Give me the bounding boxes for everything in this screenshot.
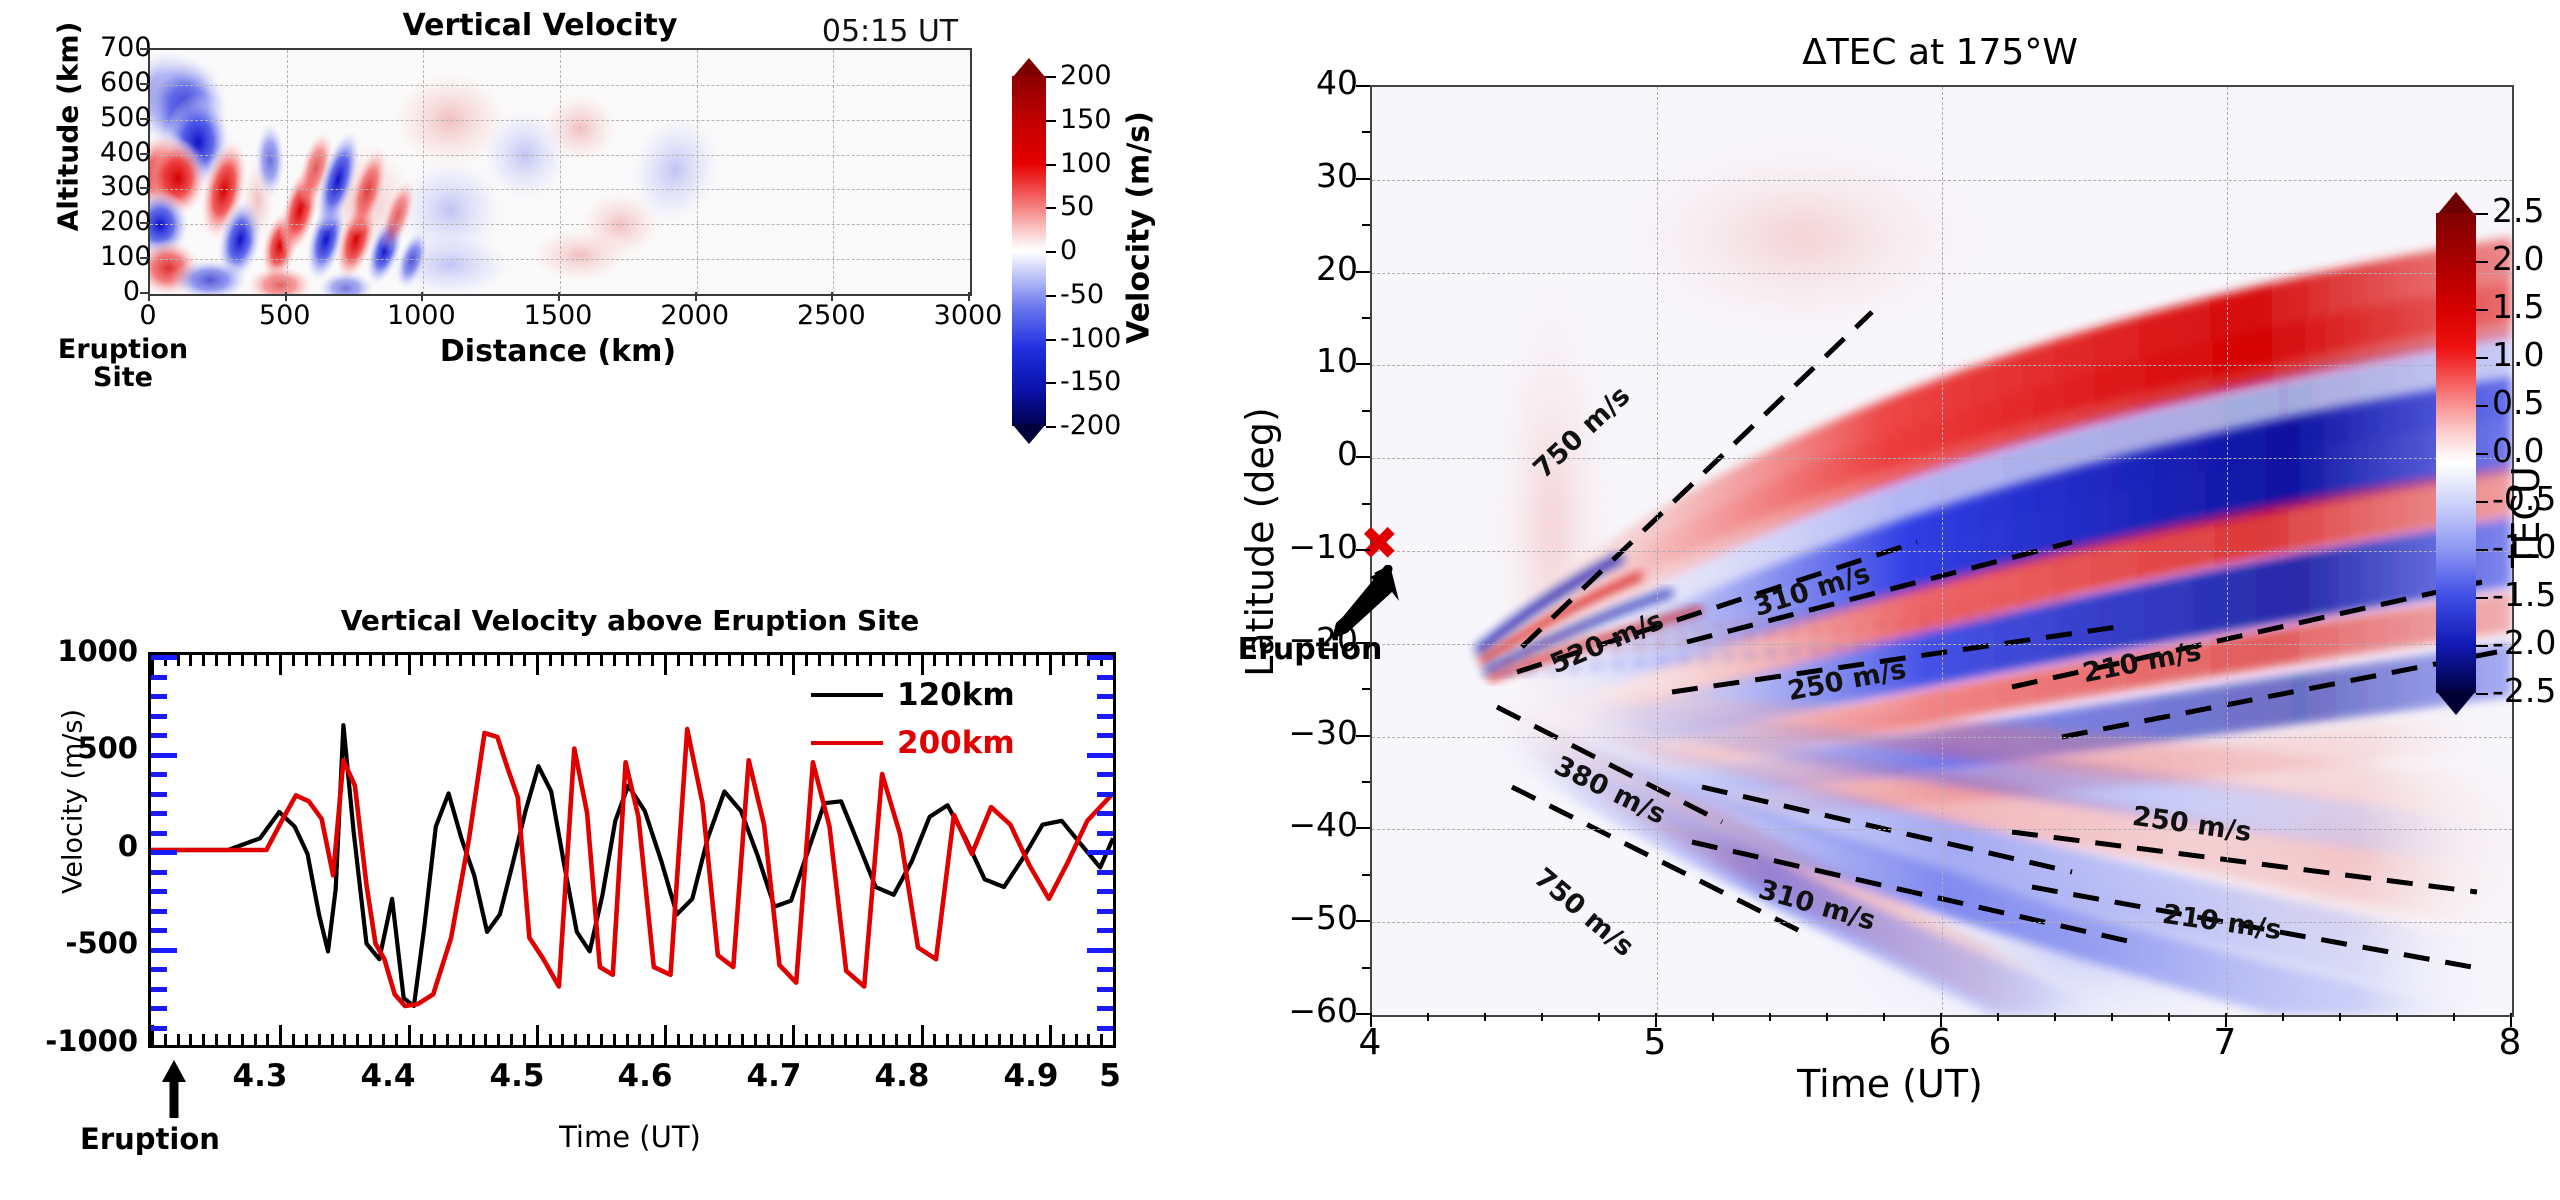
- panel-a-xtickmark: [831, 292, 833, 301]
- panel-c-xtick: 7: [2165, 1022, 2285, 1063]
- panel-b-tick-right: [1087, 948, 1113, 953]
- panel-c-ytickmark-minor: [1362, 503, 1370, 505]
- panel-b-tick-top: [497, 655, 500, 666]
- panel-b-tick-top: [805, 655, 808, 666]
- panel-b-tick-bottom: [459, 1034, 462, 1045]
- panel-b-tick-bottom: [292, 1034, 295, 1045]
- eruption-marker-icon: ✖: [1360, 520, 1399, 566]
- panel-b-tick-right: [1097, 1006, 1113, 1011]
- panel-c-colorbar-tick: 2.0: [2492, 239, 2544, 278]
- panel-b-tick-bottom: [895, 1034, 898, 1045]
- panel-c-title: ΔTEC at 175°W: [1440, 32, 2440, 73]
- panel-a-gridline-v: [287, 50, 288, 294]
- legend-swatch-200km: [811, 741, 883, 745]
- panel-b-tick-bottom: [1100, 1034, 1103, 1045]
- panel-b-tick-right: [1097, 1026, 1113, 1031]
- panel-b-tick-right: [1087, 850, 1113, 855]
- panel-b-tick-top: [433, 655, 436, 666]
- panel-b-tick-bottom: [638, 1034, 641, 1045]
- panel-b-tick-right: [1097, 792, 1113, 797]
- panel-c-xtickmark-minor: [1883, 1013, 1885, 1021]
- panel-b-tick-top: [972, 655, 975, 666]
- panel-a-ytickmark: [140, 257, 149, 259]
- colorbar-tickmark: [2476, 261, 2488, 263]
- panel-b-tick-bottom: [690, 1034, 693, 1045]
- panel-b-tick-left: [151, 987, 167, 992]
- panel-a-ytickmark: [140, 222, 149, 224]
- panel-b-tick-bottom: [1075, 1034, 1078, 1045]
- colorbar-tickmark: [2476, 501, 2488, 503]
- panel-a-gridline-v: [833, 50, 834, 294]
- panel-b-tick-top: [754, 655, 757, 666]
- panel-c-xtick: 5: [1595, 1022, 1715, 1063]
- panel-b-tick-bottom: [985, 1034, 988, 1045]
- panel-b-tick-left: [151, 811, 167, 816]
- panel-b-tick-top: [831, 655, 834, 666]
- panel-b-tick-right: [1097, 811, 1113, 816]
- panel-b-tick-left: [151, 714, 167, 719]
- colorbar-tickmark: [1046, 164, 1056, 166]
- panel-b-tick-top: [908, 655, 911, 666]
- panel-c-xtick: 6: [1880, 1022, 2000, 1063]
- panel-a-xtick: 2000: [640, 300, 750, 331]
- panel-b-tick-top: [1010, 655, 1013, 666]
- panel-c-xtickmark: [2225, 1013, 2227, 1027]
- panel-a-xtickmark: [968, 292, 970, 301]
- panel-c-ytickmark-minor: [1362, 874, 1370, 876]
- panel-b-tick-right: [1097, 733, 1113, 738]
- panel-c-ytickmark: [1356, 827, 1370, 829]
- panel-a-ytick: 500: [100, 102, 140, 133]
- panel-b-tick-bottom: [1036, 1034, 1039, 1045]
- panel-dtec-keogram: ΔTEC at 175°W: [1180, 0, 2560, 1200]
- panel-a-colorbar-tick: 150: [1060, 104, 1112, 135]
- panel-c-ytick: 40: [1240, 63, 1358, 102]
- panel-b-tick-bottom: [728, 1034, 731, 1045]
- panel-a-xtick: 2500: [776, 300, 886, 331]
- panel-b-tick-bottom: [998, 1034, 1001, 1045]
- panel-b-tick-top: [459, 655, 462, 666]
- panel-b-tick-top: [510, 655, 513, 666]
- eruption-site-line2: Site: [93, 362, 153, 393]
- panel-b-tick-left: [151, 889, 167, 894]
- panel-b-tick-bottom: [959, 1034, 962, 1045]
- panel-b-tick-bottom: [677, 1034, 680, 1045]
- panel-c-ytickmark-minor: [1362, 224, 1370, 226]
- panel-b-tick-top: [741, 655, 744, 666]
- panel-b-tick-top: [587, 655, 590, 666]
- eruption-arrow-icon: [160, 1060, 188, 1118]
- panel-b-tick-bottom: [1023, 1034, 1026, 1045]
- panel-b-tick-bottom: [1062, 1034, 1065, 1045]
- panel-b-tick-bottom: [356, 1034, 359, 1045]
- panel-b-tick-bottom: [177, 1034, 180, 1045]
- panel-a-xtick: 500: [230, 300, 340, 331]
- panel-a-colorbar-tick: -50: [1060, 279, 1104, 310]
- panel-c-xtickmark-minor: [1598, 1013, 1600, 1021]
- panel-b-tick-left: [151, 948, 177, 953]
- panel-b-tick-bottom: [574, 1034, 577, 1045]
- panel-b-tick-top: [574, 655, 577, 666]
- panel-b-tick-top: [1049, 655, 1052, 675]
- panel-b-tick-top: [600, 655, 603, 666]
- panel-c-ytickmark-minor: [1362, 131, 1370, 133]
- panel-b-tick-top: [651, 655, 654, 666]
- panel-b-tick-top: [343, 655, 346, 666]
- panel-b-tick-bottom: [856, 1034, 859, 1045]
- panel-c-xtickmark-minor: [2168, 1013, 2170, 1021]
- panel-b-tick-bottom: [1113, 1034, 1116, 1045]
- panel-b-tick-right: [1097, 870, 1113, 875]
- panel-b-tick-top: [959, 655, 962, 666]
- panel-b-tick-bottom: [254, 1034, 257, 1045]
- colorbar-extend-down-arrow: [1012, 424, 1046, 444]
- panel-c-gridline-h: [1372, 922, 2512, 923]
- panel-c-ytickmark: [1356, 271, 1370, 273]
- panel-b-tick-top: [1023, 655, 1026, 666]
- panel-c-ytickmark: [1356, 456, 1370, 458]
- panel-b-tick-left: [151, 675, 167, 680]
- panel-b-tick-top: [254, 655, 257, 666]
- panel-b-tick-bottom: [446, 1034, 449, 1045]
- panel-a-xtick: 1000: [366, 300, 476, 331]
- panel-b-tick-right: [1087, 753, 1113, 758]
- panel-b-tick-top: [472, 655, 475, 666]
- panel-b-tick-top: [446, 655, 449, 666]
- panel-b-tick-top: [305, 655, 308, 666]
- panel-c-colorbar-tick: 1.5: [2492, 287, 2544, 326]
- panel-b-tick-top: [856, 655, 859, 666]
- panel-c-gridline-h: [1372, 829, 2512, 830]
- panel-b-tick-bottom: [587, 1034, 590, 1045]
- panel-a-ylabel: Altitude (km): [52, 0, 85, 257]
- panel-a-colorbar-tick: 100: [1060, 148, 1112, 179]
- panel-a-gridline-h: [150, 155, 970, 156]
- panel-b-tick-bottom: [343, 1034, 346, 1045]
- panel-b-tick-top: [331, 655, 334, 666]
- panel-b-tick-top: [369, 655, 372, 666]
- panel-a-xtickmark: [148, 292, 150, 301]
- colorbar-tickmark: [2476, 693, 2488, 695]
- colorbar-tickmark: [2476, 645, 2488, 647]
- panel-a-ytick: 700: [100, 32, 140, 63]
- panel-b-tick-left: [151, 1045, 177, 1048]
- figure-root: Vertical Velocity 05:15 UT: [0, 0, 2560, 1200]
- panel-b-tick-bottom: [792, 1025, 795, 1045]
- panel-c-gridline-h: [1372, 180, 2512, 181]
- panel-b-tick-bottom: [420, 1034, 423, 1045]
- panel-c-xtickmark-minor: [1427, 1013, 1429, 1021]
- panel-a-plot-area: [148, 48, 972, 296]
- colorbar-tickmark: [1046, 382, 1056, 384]
- panel-b-tick-bottom: [561, 1034, 564, 1045]
- panel-c-colorbar-tick: -2.5: [2492, 671, 2556, 710]
- panel-b-tick-right: [1097, 889, 1113, 894]
- legend-label-200km: 200km: [897, 725, 1015, 761]
- colorbar-tickmark: [1046, 207, 1056, 209]
- panel-c-ylabel: Latitude (deg): [1238, 312, 1282, 772]
- panel-a-gridline-h: [150, 120, 970, 121]
- panel-c-xtickmark: [2510, 1013, 2512, 1027]
- panel-c-ytick: 20: [1240, 249, 1358, 288]
- panel-c-xtickmark-minor: [1769, 1013, 1771, 1021]
- panel-a-ytick: 300: [100, 171, 140, 202]
- panel-c-xtickmark-minor: [2396, 1013, 2398, 1021]
- panel-a-ytickmark: [140, 118, 149, 120]
- colorbar-tickmark: [2476, 549, 2488, 551]
- panel-c-xlabel: Time (UT): [1660, 1062, 2120, 1106]
- panel-b-ytick: -1000: [10, 1024, 138, 1058]
- panel-b-tick-bottom: [382, 1034, 385, 1045]
- panel-b-plot-area: 120km 200km: [148, 652, 1116, 1048]
- panel-b-tick-top: [882, 655, 885, 666]
- panel-b-tick-top: [818, 655, 821, 666]
- panel-b-tick-top: [292, 655, 295, 666]
- panel-b-tick-top: [933, 655, 936, 666]
- panel-b-xtick: 4.8: [842, 1058, 962, 1094]
- panel-a-colorbar: 200 150 100 50 0 -50 -100 -150 -200 Velo…: [1012, 60, 1046, 442]
- panel-c-ytickmark: [1356, 85, 1370, 87]
- panel-c-xtick: 8: [2450, 1022, 2560, 1063]
- panel-b-tick-bottom: [408, 1025, 411, 1045]
- panel-a-ytickmark: [140, 48, 149, 50]
- panel-b-tick-bottom: [472, 1034, 475, 1045]
- panel-c-xtickmark-minor: [2453, 1013, 2455, 1021]
- panel-a-eruption-site-label: Eruption Site: [28, 336, 218, 391]
- panel-b-tick-top: [279, 655, 282, 675]
- panel-b-tick-top: [408, 655, 411, 675]
- panel-b-tick-top: [215, 655, 218, 666]
- panel-b-tick-bottom: [972, 1034, 975, 1045]
- panel-a-gridline-h: [150, 85, 970, 86]
- panel-b-tick-top: [202, 655, 205, 666]
- eruption-site-line1: Eruption: [58, 334, 188, 365]
- panel-b-tick-top: [177, 655, 180, 666]
- panel-a-title: Vertical Velocity: [230, 8, 850, 43]
- panel-b-xtick: 4.3: [200, 1058, 320, 1094]
- panel-a-xtick: 1500: [503, 300, 613, 331]
- panel-b-tick-bottom: [651, 1034, 654, 1045]
- panel-a-xtickmark: [558, 292, 560, 301]
- legend-item-120km: 120km: [811, 671, 1041, 719]
- colorbar-tickmark: [2476, 357, 2488, 359]
- panel-b-tick-bottom: [715, 1034, 718, 1045]
- panel-c-ytickmark: [1356, 642, 1370, 644]
- panel-b-tick-top: [318, 655, 321, 666]
- panel-b-tick-bottom: [921, 1025, 924, 1045]
- panel-b-tick-left: [151, 753, 177, 758]
- panel-b-tick-bottom: [869, 1034, 872, 1045]
- panel-b-tick-top: [189, 655, 192, 666]
- panel-b-eruption-label: Eruption: [30, 1122, 270, 1156]
- panel-a-ytickmark: [140, 153, 149, 155]
- panel-c-xtickmark-minor: [2111, 1013, 2113, 1021]
- panel-b-xtick: 4.5: [457, 1058, 577, 1094]
- panel-vertical-velocity-timeseries: Vertical Velocity above Eruption Site 12…: [0, 560, 1180, 1200]
- panel-b-tick-top: [869, 655, 872, 666]
- colorbar-extend-up-arrow: [1012, 58, 1046, 78]
- panel-c-gridline-h: [1372, 737, 2512, 738]
- panel-a-ytick: 200: [100, 206, 140, 237]
- panel-b-tick-bottom: [189, 1034, 192, 1045]
- panel-b-tick-bottom: [279, 1025, 282, 1045]
- colorbar-tickmark: [1046, 295, 1056, 297]
- colorbar-tickmark: [2476, 309, 2488, 311]
- panel-b-tick-bottom: [613, 1034, 616, 1045]
- panel-b-tick-bottom: [202, 1034, 205, 1045]
- panel-c-ytickmark-minor: [1362, 688, 1370, 690]
- panel-b-tick-left: [151, 772, 167, 777]
- colorbar-tickmark: [1046, 76, 1056, 78]
- panel-b-tick-bottom: [510, 1034, 513, 1045]
- panel-b-tick-left: [151, 655, 177, 660]
- panel-b-tick-right: [1097, 928, 1113, 933]
- panel-b-tick-bottom: [549, 1034, 552, 1045]
- panel-c-xtickmark-minor: [2282, 1013, 2284, 1021]
- panel-b-tick-bottom: [395, 1034, 398, 1045]
- panel-b-tick-bottom: [664, 1025, 667, 1045]
- panel-a-ytick: 400: [100, 137, 140, 168]
- panel-b-tick-bottom: [882, 1034, 885, 1045]
- panel-b-tick-bottom: [908, 1034, 911, 1045]
- panel-c-colorbar-tick: -2.0: [2492, 623, 2556, 662]
- legend-item-200km: 200km: [811, 719, 1041, 767]
- panel-c-colorbar-tick: 2.5: [2492, 191, 2544, 230]
- panel-b-tick-top: [946, 655, 949, 666]
- panel-b-xtick: 4.4: [328, 1058, 448, 1094]
- panel-b-tick-right: [1087, 655, 1113, 660]
- panel-b-title: Vertical Velocity above Eruption Site: [160, 604, 1100, 637]
- panel-c-xtickmark: [1655, 1013, 1657, 1027]
- panel-b-tick-bottom: [241, 1034, 244, 1045]
- panel-a-ytick: 600: [100, 67, 140, 98]
- panel-b-tick-left: [151, 831, 167, 836]
- panel-b-tick-top: [985, 655, 988, 666]
- panel-c-ytickmark: [1356, 178, 1370, 180]
- panel-b-tick-left: [151, 1026, 167, 1031]
- panel-a-ytickmark: [140, 83, 149, 85]
- panel-b-tick-left: [151, 870, 167, 875]
- panel-c-gridline-h: [1372, 551, 2512, 552]
- panel-b-tick-top: [767, 655, 770, 666]
- panel-b-tick-left: [151, 1006, 167, 1011]
- panel-a-colorbar-tick: 200: [1060, 60, 1112, 91]
- panel-a-xlabel: Distance (km): [318, 334, 798, 369]
- panel-a-colorbar-tick: -200: [1060, 410, 1121, 441]
- panel-b-tick-top: [998, 655, 1001, 666]
- panel-c-ytickmark-minor: [1362, 595, 1370, 597]
- panel-b-tick-top: [484, 655, 487, 666]
- panel-b-tick-top: [266, 655, 269, 666]
- panel-b-tick-bottom: [703, 1034, 706, 1045]
- panel-a-xtickmark: [285, 292, 287, 301]
- panel-b-tick-bottom: [780, 1034, 783, 1045]
- panel-b-tick-top: [792, 655, 795, 675]
- panel-b-tick-top: [382, 655, 385, 666]
- colorbar-gradient: [1012, 76, 1046, 426]
- panel-b-legend: 120km 200km: [811, 671, 1041, 767]
- panel-b-tick-right: [1097, 987, 1113, 992]
- panel-b-tick-bottom: [369, 1034, 372, 1045]
- panel-b-tick-bottom: [305, 1034, 308, 1045]
- panel-b-tick-right: [1097, 909, 1113, 914]
- panel-c-ytickmark-minor: [1362, 781, 1370, 783]
- panel-b-tick-bottom: [215, 1034, 218, 1045]
- colorbar-extend-down-arrow: [2436, 691, 2476, 715]
- panel-b-tick-top: [1075, 655, 1078, 666]
- panel-b-tick-left: [151, 694, 167, 699]
- panel-a-xtickmark: [421, 292, 423, 301]
- panel-c-colorbar-tick: 1.0: [2492, 335, 2544, 374]
- colorbar-tickmark: [2476, 453, 2488, 455]
- panel-c-xtick: 4: [1310, 1022, 1430, 1063]
- panel-c-colorbar: 2.5 2.0 1.5 1.0 0.5 0.0 -0.5 -1.0 -1.5 -…: [2436, 195, 2476, 715]
- panel-b-tick-top: [356, 655, 359, 666]
- panel-a-colorbar-tick: -100: [1060, 323, 1121, 354]
- colorbar-tickmark: [1046, 120, 1056, 122]
- panel-a-xtick: 0: [93, 300, 203, 331]
- panel-b-tick-top: [523, 655, 526, 666]
- panel-a-colorbar-tick: 0: [1060, 235, 1077, 266]
- panel-a-colorbar-label: Velocity (m/s): [1122, 63, 1157, 393]
- panel-b-tick-top: [1062, 655, 1065, 666]
- panel-b-tick-top: [895, 655, 898, 666]
- panel-b-tick-top: [844, 655, 847, 666]
- panel-b-tick-bottom: [536, 1025, 539, 1045]
- panel-c-xtickmark: [1370, 1013, 1372, 1027]
- panel-c-gridline-h: [1372, 273, 2512, 274]
- panel-b-tick-top: [1113, 655, 1116, 666]
- legend-swatch-120km: [811, 693, 883, 697]
- panel-b-tick-top: [549, 655, 552, 666]
- panel-b-tick-bottom: [1049, 1025, 1052, 1045]
- panel-b-tick-top: [690, 655, 693, 666]
- panel-c-xtickmark-minor: [2054, 1013, 2056, 1021]
- panel-c-gridline-h: [1372, 365, 2512, 366]
- panel-c-gridline-h: [1372, 644, 2512, 645]
- panel-b-xtick: 4.7: [714, 1058, 834, 1094]
- panel-c-ytickmark: [1356, 549, 1370, 551]
- panel-b-tick-bottom: [523, 1034, 526, 1045]
- panel-c-xtickmark: [1940, 1013, 1942, 1027]
- panel-b-tick-top: [626, 655, 629, 666]
- panel-b-xtick: 4.6: [585, 1058, 705, 1094]
- panel-b-xtick: 5: [1050, 1058, 1170, 1094]
- panel-b-tick-bottom: [433, 1034, 436, 1045]
- panel-b-tick-top: [677, 655, 680, 666]
- panel-b-tick-bottom: [600, 1034, 603, 1045]
- panel-c-colorbar-label: TECU: [2504, 407, 2548, 627]
- panel-c-xtickmark-minor: [1712, 1013, 1714, 1021]
- panel-b-tick-bottom: [741, 1034, 744, 1045]
- panel-b-tick-bottom: [805, 1034, 808, 1045]
- colorbar-tickmark: [2476, 405, 2488, 407]
- panel-c-xtickmark-minor: [1826, 1013, 1828, 1021]
- panel-c-ytickmark-minor: [1362, 967, 1370, 969]
- panel-vertical-velocity-cross-section: Vertical Velocity 05:15 UT: [0, 0, 1180, 560]
- panel-b-tick-top: [728, 655, 731, 666]
- panel-b-tick-bottom: [831, 1034, 834, 1045]
- panel-b-tick-bottom: [164, 1034, 167, 1045]
- panel-b-tick-left: [151, 928, 167, 933]
- panel-b-tick-top: [703, 655, 706, 666]
- panel-b-tick-right: [1097, 967, 1113, 972]
- panel-b-tick-right: [1087, 1045, 1113, 1048]
- panel-b-tick-right: [1097, 831, 1113, 836]
- panel-a-gridline-h: [150, 224, 970, 225]
- panel-b-tick-bottom: [767, 1034, 770, 1045]
- panel-c-xtickmark-minor: [1997, 1013, 1999, 1021]
